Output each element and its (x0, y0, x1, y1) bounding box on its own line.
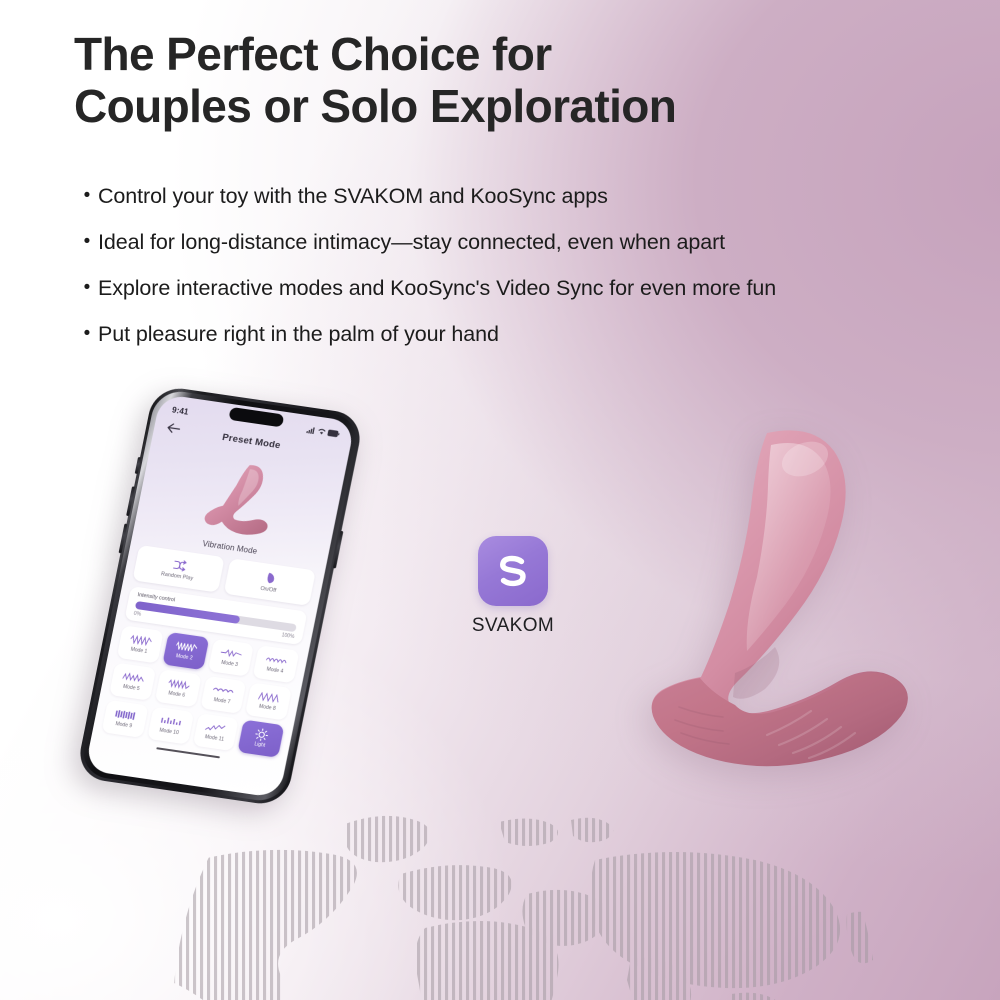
mode-cell-6[interactable]: Mode 6 (155, 669, 202, 707)
bullet-dot-icon: • (76, 320, 98, 348)
mode-cell-2[interactable]: Mode 2 (162, 631, 209, 669)
bullet-text: Put pleasure right in the palm of your h… (98, 320, 499, 348)
status-bar-clock: 9:41 (171, 405, 189, 416)
mode-cell-3[interactable]: Mode 3 (207, 638, 254, 676)
shuffle-icon (172, 557, 188, 573)
mode-cell-7[interactable]: Mode 7 (200, 675, 247, 713)
bullet-text: Explore interactive modes and KooSync's … (98, 274, 776, 302)
mode-cell-8[interactable]: Mode 8 (245, 682, 292, 720)
mode-cell-10[interactable]: Mode 10 (147, 706, 194, 744)
bullet-dot-icon: • (76, 182, 98, 210)
phone-mockup: 9:41 (88, 388, 358, 808)
light-bulb-icon (254, 727, 269, 742)
svakom-brand-logo: SVAKOM (466, 536, 560, 637)
mode-label: Mode 3 (221, 660, 239, 668)
bullet-dot-icon: • (76, 228, 98, 256)
mode-cell-light[interactable]: Light (238, 719, 285, 757)
page-title: The Perfect Choice for Couples or Solo E… (74, 28, 874, 132)
feature-bullet-list: • Control your toy with the SVAKOM and K… (76, 182, 906, 366)
svakom-app-icon[interactable] (478, 536, 548, 606)
mode-cell-1[interactable]: Mode 1 (117, 625, 164, 663)
power-play-icon (264, 570, 278, 585)
mode-label: Mode 2 (175, 653, 193, 661)
random-play-button[interactable]: Random Play (132, 545, 224, 593)
mode-label: Mode 8 (258, 704, 276, 712)
action-card-label: On/Off (260, 586, 277, 594)
phone-notch (228, 407, 284, 428)
heading-line-2: Couples or Solo Exploration (74, 80, 874, 132)
bullet-text: Ideal for long-distance intimacy—stay co… (98, 228, 725, 256)
intensity-min-label: 0% (133, 610, 141, 617)
mode-label: Light (254, 741, 266, 748)
mode-label: Mode 9 (115, 721, 133, 729)
action-card-label: Random Play (160, 571, 193, 582)
list-item: • Put pleasure right in the palm of your… (76, 320, 906, 366)
svakom-wordmark: SVAKOM (466, 615, 560, 637)
mode-label: Mode 5 (122, 684, 140, 692)
mode-cell-4[interactable]: Mode 4 (253, 645, 300, 683)
mode-label: Mode 6 (168, 690, 186, 698)
bullet-text: Control your toy with the SVAKOM and Koo… (98, 182, 608, 210)
vibration-mode-grid: Mode 1 Mode 2 Mode 3 (93, 623, 309, 758)
mode-label: Mode 1 (130, 647, 148, 655)
wearable-vibrator-product-photo (615, 415, 925, 785)
intensity-max-label: 100% (281, 632, 295, 640)
phone-frame: 9:41 (75, 385, 365, 808)
list-item: • Ideal for long-distance intimacy—stay … (76, 228, 906, 274)
mode-cell-11[interactable]: Mode 11 (192, 712, 239, 750)
phone-bezel: 9:41 (79, 388, 362, 804)
on-off-button[interactable]: On/Off (224, 558, 316, 606)
promo-banner: The Perfect Choice for Couples or Solo E… (0, 0, 1000, 1000)
list-item: • Control your toy with the SVAKOM and K… (76, 182, 906, 228)
mode-label: Mode 7 (213, 697, 231, 705)
list-item: • Explore interactive modes and KooSync'… (76, 274, 906, 320)
mode-cell-9[interactable]: Mode 9 (102, 699, 149, 737)
mode-label: Mode 4 (266, 666, 284, 674)
home-indicator-bar[interactable] (156, 747, 220, 759)
mode-cell-5[interactable]: Mode 5 (109, 662, 156, 700)
heading-line-1: The Perfect Choice for (74, 28, 874, 80)
phone-screen: 9:41 (85, 394, 356, 799)
bullet-dot-icon: • (76, 274, 98, 302)
